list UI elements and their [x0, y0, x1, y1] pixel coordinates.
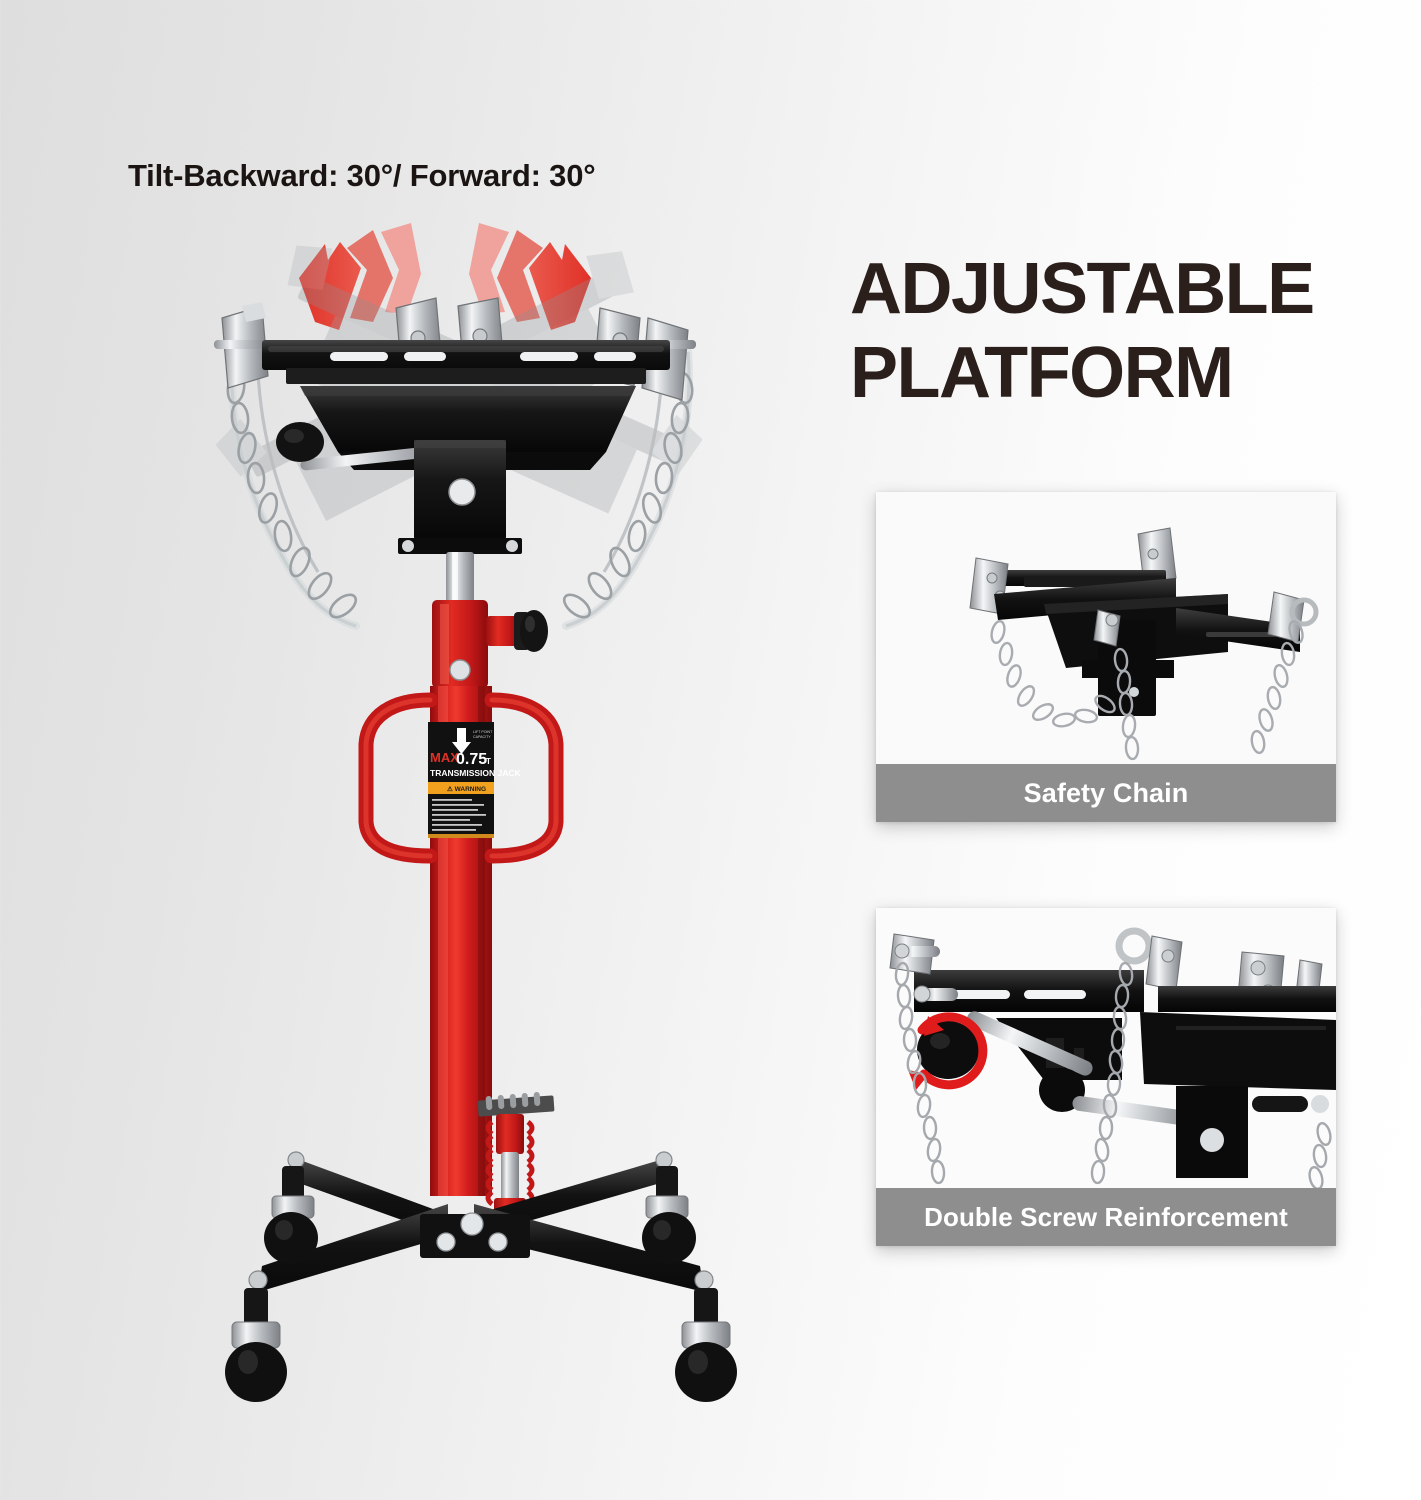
- caption-double-screw-reinforcement: Double Screw Reinforcement: [876, 1188, 1336, 1246]
- transmission-jack-illustration: LIFT POINT CAPACITY MAX 0.75 T TRANSMISS…: [0, 0, 840, 1500]
- svg-text:T: T: [486, 757, 491, 766]
- double-screw-reinforcement-photo: [876, 908, 1336, 1188]
- svg-text:0.75: 0.75: [456, 751, 487, 768]
- page-title: ADJUSTABLE PLATFORM: [850, 248, 1421, 415]
- svg-text:⚠ WARNING: ⚠ WARNING: [447, 785, 486, 793]
- svg-text:LIFT POINT: LIFT POINT: [473, 730, 493, 734]
- feature-card-double-screw-reinforcement[interactable]: Double Screw Reinforcement: [876, 908, 1336, 1246]
- svg-text:CAPACITY: CAPACITY: [473, 735, 491, 739]
- safety-chain-photo: [876, 492, 1336, 764]
- headline-line-1: ADJUSTABLE: [850, 249, 1314, 329]
- right-feature-panel: ADJUSTABLE PLATFORM: [840, 0, 1421, 1500]
- svg-text:MAX: MAX: [430, 750, 459, 765]
- feature-card-safety-chain[interactable]: Safety Chain: [876, 492, 1336, 822]
- left-product-panel: Tilt-Backward: 30°/ Forward: 30°: [0, 0, 840, 1500]
- svg-text:TRANSMISSION JACK: TRANSMISSION JACK: [430, 768, 522, 778]
- headline-line-2: PLATFORM: [850, 332, 1421, 416]
- caption-safety-chain: Safety Chain: [876, 764, 1336, 822]
